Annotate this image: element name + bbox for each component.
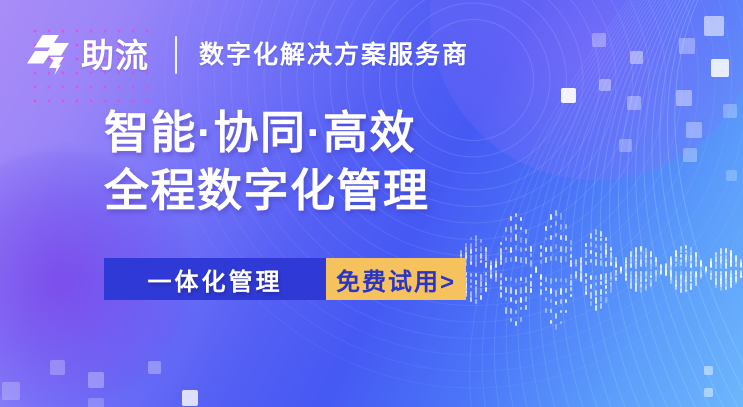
brand-divider bbox=[175, 36, 177, 74]
brand-row: 助流 数字化解决方案服务商 bbox=[26, 30, 469, 80]
lightning-bolt-logo-icon bbox=[26, 33, 72, 77]
promo-banner: 助流 数字化解决方案服务商 智能·协同·高效 全程数字化管理 一体化管理 免费试… bbox=[0, 0, 743, 407]
headline-line-1: 智能·协同·高效 bbox=[104, 104, 430, 162]
integrated-management-button[interactable]: 一体化管理 bbox=[104, 258, 326, 300]
brand-tagline: 数字化解决方案服务商 bbox=[199, 43, 469, 68]
headline-block: 智能·协同·高效 全程数字化管理 bbox=[104, 104, 430, 220]
brand-name: 助流 bbox=[81, 39, 149, 72]
cta-row: 一体化管理 免费试用> bbox=[104, 258, 466, 300]
headline-line-2: 全程数字化管理 bbox=[104, 162, 430, 220]
free-trial-button[interactable]: 免费试用> bbox=[326, 258, 466, 300]
